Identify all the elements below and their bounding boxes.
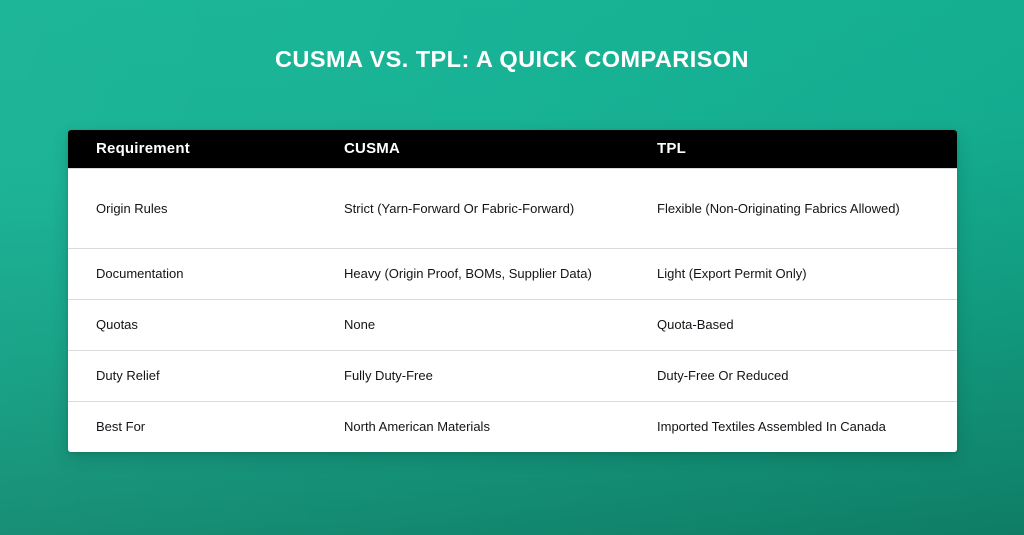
column-header-tpl: TPL [657,140,957,158]
table-row: Origin Rules Strict (Yarn-Forward Or Fab… [68,168,957,248]
cell-tpl: Imported Textiles Assembled In Canada [657,418,957,436]
cell-cusma: Fully Duty-Free [344,367,657,385]
table-row: Best For North American Materials Import… [68,401,957,452]
cell-requirement: Documentation [68,265,344,283]
table-row: Documentation Heavy (Origin Proof, BOMs,… [68,248,957,299]
cell-tpl: Light (Export Permit Only) [657,265,957,283]
cell-requirement: Origin Rules [68,200,344,218]
comparison-poster: CUSMA Vs. TPL: A Quick Comparison Requir… [0,0,1024,535]
table-header-row: Requirement CUSMA TPL [68,130,957,168]
cell-cusma: North American Materials [344,418,657,436]
cell-tpl: Duty-Free Or Reduced [657,367,957,385]
column-header-requirement: Requirement [68,140,344,158]
page-title: CUSMA Vs. TPL: A Quick Comparison [0,44,1024,74]
table-row: Quotas None Quota-Based [68,299,957,350]
cell-cusma: Strict (Yarn-Forward Or Fabric-Forward) [344,200,657,218]
comparison-table: Requirement CUSMA TPL Origin Rules Stric… [68,130,957,452]
column-header-cusma: CUSMA [344,140,657,158]
cell-requirement: Quotas [68,316,344,334]
table-row: Duty Relief Fully Duty-Free Duty-Free Or… [68,350,957,401]
cell-requirement: Best For [68,418,344,436]
cell-tpl: Quota-Based [657,316,957,334]
cell-requirement: Duty Relief [68,367,344,385]
cell-tpl: Flexible (Non-Originating Fabrics Allowe… [657,200,957,218]
cell-cusma: Heavy (Origin Proof, BOMs, Supplier Data… [344,265,657,283]
cell-cusma: None [344,316,657,334]
